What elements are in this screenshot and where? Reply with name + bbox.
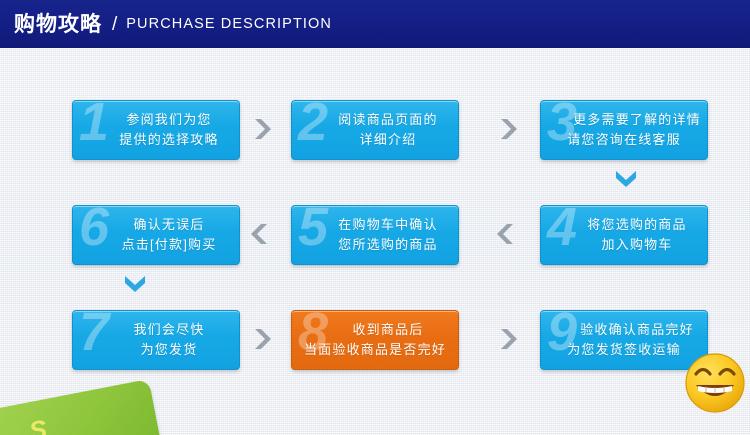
chevron-left-icon-2 — [496, 221, 518, 247]
page-header: 购物攻略 / PURCHASE DESCRIPTION — [0, 0, 750, 48]
chevron-left-icon-1 — [250, 221, 272, 247]
chevron-right-icon-2 — [496, 116, 518, 142]
chevron-right-icon-1 — [250, 116, 272, 142]
step-text-4: 将您选购的商品 加入购物车 — [541, 206, 707, 264]
step-text-8: 收到商品后 当面验收商品是否完好 — [292, 311, 458, 369]
flow-step-6: 6 确认无误后 点击[付款]购买 — [72, 205, 240, 265]
step-line-8a: 收到商品后 — [326, 320, 423, 340]
page-title-cn: 购物攻略 — [14, 14, 102, 35]
flow-step-5: 5 在购物车中确认 您所选购的商品 — [291, 205, 459, 265]
step-line-1a: 参阅我们为您 — [126, 110, 211, 130]
flow-step-9: 9 验收确认商品完好 为您发货签收运输 — [540, 310, 708, 370]
step-line-1b: 提供的选择攻略 — [119, 130, 218, 150]
flow-step-2: 2 阅读商品页面的 详细介绍 — [291, 100, 459, 160]
step-line-3b: 请您咨询在线客服 — [567, 130, 681, 150]
step-text-2: 阅读商品页面的 详细介绍 — [292, 101, 458, 159]
step-text-6: 确认无误后 点击[付款]购买 — [73, 206, 239, 264]
flow-step-4: 4 将您选购的商品 加入购物车 — [540, 205, 708, 265]
grinning-face-icon — [684, 352, 746, 414]
flow-step-3: 3 更多需要了解的详情 请您咨询在线客服 — [540, 100, 708, 160]
step-line-6b: 点击[付款]购买 — [122, 235, 217, 255]
step-text-9: 验收确认商品完好 为您发货签收运输 — [541, 311, 707, 369]
title-separator: / — [112, 15, 117, 34]
step-line-6a: 确认无误后 — [133, 215, 204, 235]
step-text-7: 我们会尽快 为您发货 — [73, 311, 239, 369]
page-title-en: PURCHASE DESCRIPTION — [126, 17, 332, 32]
step-line-8b: 当面验收商品是否完好 — [304, 340, 446, 360]
step-line-5b: 您所选购的商品 — [338, 235, 437, 255]
chevron-right-icon-4 — [496, 326, 518, 352]
step-line-9a: 验收确认商品完好 — [554, 320, 694, 340]
flow-step-1: 1 参阅我们为您 提供的选择攻略 — [72, 100, 240, 160]
flow-step-7: 7 我们会尽快 为您发货 — [72, 310, 240, 370]
step-line-9b: 为您发货签收运输 — [567, 340, 681, 360]
step-line-4b: 加入购物车 — [601, 235, 672, 255]
step-line-7a: 我们会尽快 — [133, 320, 204, 340]
step-line-3a: 更多需要了解的详情 — [547, 110, 701, 130]
page-background: 购物攻略 / PURCHASE DESCRIPTION 1 参阅我们为您 提供的… — [0, 0, 750, 435]
step-line-7b: 为您发货 — [141, 340, 198, 360]
chevron-down-icon-1 — [613, 168, 639, 188]
purchase-flow-diagram: 1 参阅我们为您 提供的选择攻略 2 阅读商品页面的 详细介绍 3 更多需要了解… — [0, 48, 750, 435]
chevron-down-icon-2 — [122, 273, 148, 293]
step-text-1: 参阅我们为您 提供的选择攻略 — [73, 101, 239, 159]
step-line-2b: 详细介绍 — [360, 130, 417, 150]
step-line-4a: 将您选购的商品 — [587, 215, 686, 235]
step-text-5: 在购物车中确认 您所选购的商品 — [292, 206, 458, 264]
flow-step-8: 8 收到商品后 当面验收商品是否完好 — [291, 310, 459, 370]
step-text-3: 更多需要了解的详情 请您咨询在线客服 — [541, 101, 707, 159]
step-line-5a: 在购物车中确认 — [338, 215, 437, 235]
green-banner-text: S — [27, 413, 52, 435]
chevron-right-icon-3 — [250, 326, 272, 352]
step-line-2a: 阅读商品页面的 — [338, 110, 437, 130]
